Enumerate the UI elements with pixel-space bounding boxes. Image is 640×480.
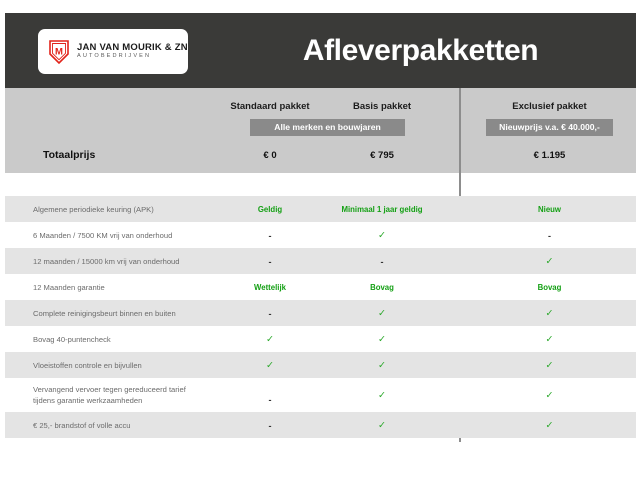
total-price-exclusief: € 1.195	[492, 150, 607, 161]
row-label: Vervangend vervoer tegen gereduceerd tar…	[33, 378, 233, 412]
row-label: 6 Maanden / 7500 KM vrij van onderhoud	[33, 222, 233, 248]
row-label: 12 maanden / 15000 km vrij van onderhoud	[33, 248, 233, 274]
table-row: 12 maanden / 15000 km vrij van onderhoud…	[5, 248, 636, 274]
cell-standaard: Wettelijk	[215, 274, 325, 300]
row-label-line1: Vloeistoffen controle en bijvullen	[33, 360, 233, 371]
total-price-label: Totaalprijs	[43, 149, 95, 161]
total-price-basis: € 795	[327, 150, 437, 161]
row-label-line1: Algemene periodieke keuring (APK)	[33, 204, 233, 215]
row-label: Complete reinigingsbeurt binnen en buite…	[33, 300, 233, 326]
cell-basis: -	[327, 248, 437, 274]
cell-standaard: ✓	[215, 326, 325, 352]
table-row: 6 Maanden / 7500 KM vrij van onderhoud-✓…	[5, 222, 636, 248]
row-label: € 25,- brandstof of volle accu	[33, 412, 233, 438]
cell-basis: ✓	[327, 222, 437, 248]
column-label-standaard: Standaard pakket	[215, 101, 325, 112]
page-title: Afleverpakketten	[205, 13, 636, 88]
row-label-line1: Vervangend vervoer tegen gereduceerd tar…	[33, 384, 233, 395]
cell-exclusief: ✓	[492, 300, 607, 326]
cell-exclusief: ✓	[492, 352, 607, 378]
row-label: Algemene periodieke keuring (APK)	[33, 196, 233, 222]
cell-standaard: ✓	[215, 352, 325, 378]
row-label: Vloeistoffen controle en bijvullen	[33, 352, 233, 378]
column-header-block: Standaard pakket Basis pakket Exclusief …	[5, 88, 636, 173]
cell-basis: ✓	[327, 326, 437, 352]
svg-text:M: M	[55, 46, 63, 57]
table-row: Bovag 40-puntencheck✓✓✓	[5, 326, 636, 352]
table-row: Complete reinigingsbeurt binnen en buite…	[5, 300, 636, 326]
column-label-basis: Basis pakket	[327, 101, 437, 112]
cell-standaard: -	[215, 222, 325, 248]
cell-basis: Bovag	[327, 274, 437, 300]
cell-exclusief: ✓	[492, 248, 607, 274]
company-logo: M JAN VAN MOURIK & ZN AUTOBEDRIJVEN	[38, 29, 188, 74]
table-row: Algemene periodieke keuring (APK)GeldigM…	[5, 196, 636, 222]
row-label: 12 Maanden garantie	[33, 274, 233, 300]
page-root: M JAN VAN MOURIK & ZN AUTOBEDRIJVEN Afle…	[0, 0, 640, 480]
logo-company-subtitle: AUTOBEDRIJVEN	[77, 54, 188, 60]
row-label: Bovag 40-puntencheck	[33, 326, 233, 352]
feature-table: Algemene periodieke keuring (APK)GeldigM…	[5, 196, 636, 438]
cell-exclusief: -	[492, 222, 607, 248]
footer-blank-area	[5, 442, 636, 463]
cell-standaard: -	[215, 412, 325, 438]
cell-basis: ✓	[327, 378, 437, 412]
column-label-exclusief: Exclusief pakket	[492, 101, 607, 112]
cell-standaard: -	[215, 378, 325, 412]
badge-nieuwprijs: Nieuwprijs v.a. € 40.000,-	[486, 119, 613, 136]
cell-exclusief: ✓	[492, 326, 607, 352]
cell-basis: Minimaal 1 jaar geldig	[327, 196, 437, 222]
row-label-line1: 12 Maanden garantie	[33, 282, 233, 293]
table-row: 12 Maanden garantieWettelijkBovagBovag	[5, 274, 636, 300]
row-label-line1: € 25,- brandstof of volle accu	[33, 420, 233, 431]
table-row: Vervangend vervoer tegen gereduceerd tar…	[5, 378, 636, 412]
brochure-sheet: M JAN VAN MOURIK & ZN AUTOBEDRIJVEN Afle…	[5, 13, 636, 463]
cell-basis: ✓	[327, 412, 437, 438]
header-band: M JAN VAN MOURIK & ZN AUTOBEDRIJVEN Afle…	[5, 13, 636, 88]
cell-standaard: -	[215, 248, 325, 274]
cell-basis: ✓	[327, 352, 437, 378]
row-label-line1: 12 maanden / 15000 km vrij van onderhoud	[33, 256, 233, 267]
total-price-standaard: € 0	[215, 150, 325, 161]
logo-company-name: JAN VAN MOURIK & ZN	[77, 43, 188, 53]
cell-basis: ✓	[327, 300, 437, 326]
row-label-line1: 6 Maanden / 7500 KM vrij van onderhoud	[33, 230, 233, 241]
cell-exclusief: ✓	[492, 378, 607, 412]
cell-standaard: Geldig	[215, 196, 325, 222]
table-row: Vloeistoffen controle en bijvullen✓✓✓	[5, 352, 636, 378]
cell-exclusief: Bovag	[492, 274, 607, 300]
logo-text-block: JAN VAN MOURIK & ZN AUTOBEDRIJVEN	[77, 43, 188, 60]
shield-m-logo-icon: M	[48, 39, 70, 65]
row-label-line1: Complete reinigingsbeurt binnen en buite…	[33, 308, 233, 319]
table-row: € 25,- brandstof of volle accu-✓✓	[5, 412, 636, 438]
cell-exclusief: Nieuw	[492, 196, 607, 222]
row-label-line2: tijdens garantie werkzaamheden	[33, 395, 233, 406]
row-label-line1: Bovag 40-puntencheck	[33, 334, 233, 345]
badge-alle-merken: Alle merken en bouwjaren	[250, 119, 405, 136]
cell-exclusief: ✓	[492, 412, 607, 438]
cell-standaard: -	[215, 300, 325, 326]
